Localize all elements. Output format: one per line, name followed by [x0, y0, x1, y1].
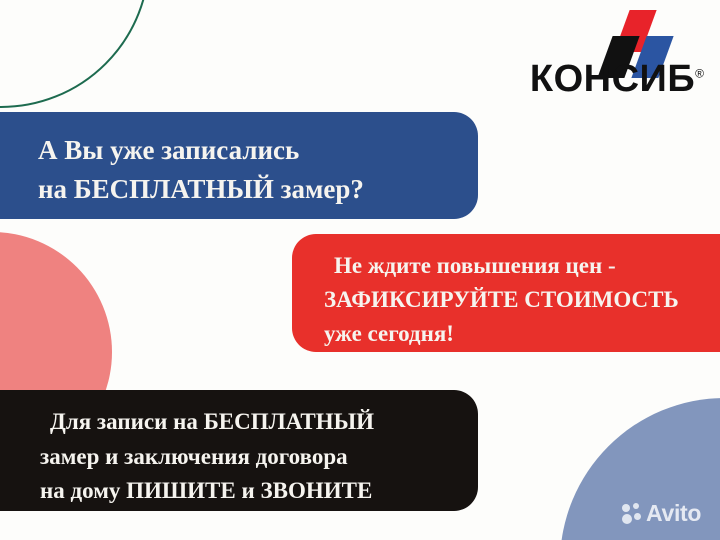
cta-line-3: на дому ПИШИТЕ и ЗВОНИТЕ — [40, 474, 478, 509]
urgency-line-1: Не ждите повышения цен - — [324, 249, 720, 283]
cta-line-2: замер и заключения договора — [40, 440, 478, 475]
avito-dots-icon — [622, 503, 643, 524]
avito-watermark: Avito — [622, 502, 701, 525]
urgency-line-2: ЗАФИКСИРУЙТЕ СТОИМОСТЬ — [324, 283, 720, 317]
headline-line-1: А Вы уже записались — [38, 131, 478, 170]
call-to-action-block: Для записи на БЕСПЛАТНЫЙ замер и заключе… — [0, 390, 478, 511]
avito-wordmark: Avito — [646, 502, 701, 525]
logo-wordmark-text: КОНСИБ — [530, 58, 695, 100]
price-urgency-block: Не ждите повышения цен - ЗАФИКСИРУЙТЕ СТ… — [292, 234, 720, 352]
poster-canvas: КОНСИБ® А Вы уже записались на БЕСПЛАТНЫ… — [0, 0, 720, 540]
headline-question-block: А Вы уже записались на БЕСПЛАТНЫЙ замер? — [0, 112, 478, 219]
headline-line-2: на БЕСПЛАТНЫЙ замер? — [38, 170, 478, 209]
green-circle-outline-decoration — [0, 0, 150, 108]
konsib-logo: КОНСИБ® — [526, 8, 704, 104]
cta-line-1: Для записи на БЕСПЛАТНЫЙ — [40, 405, 478, 440]
registered-trademark-icon: ® — [695, 66, 704, 80]
urgency-line-3: уже сегодня! — [324, 317, 720, 351]
logo-wordmark: КОНСИБ® — [526, 60, 704, 98]
